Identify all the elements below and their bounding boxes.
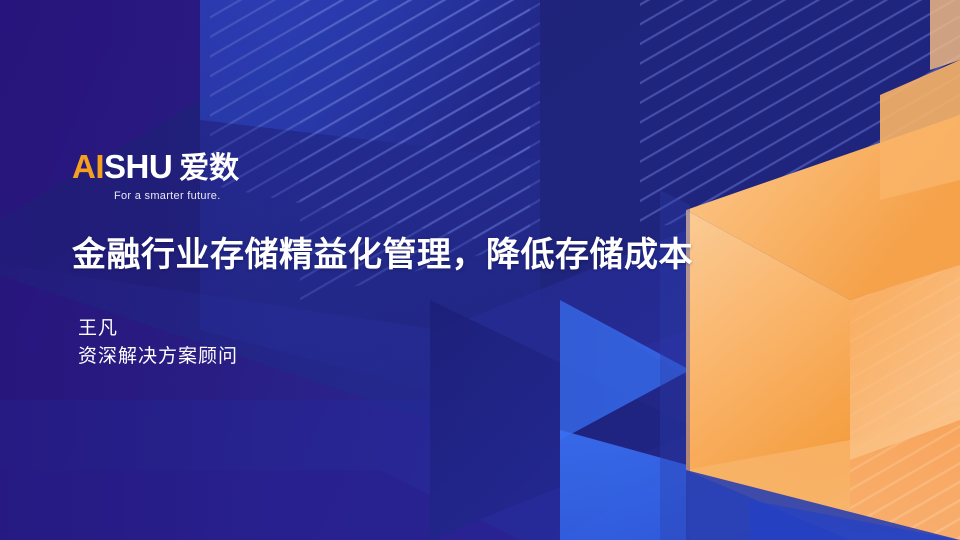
presenter-name: 王凡 <box>78 315 238 343</box>
logo-tagline: For a smarter future. <box>114 190 372 202</box>
slide-title: 金融行业存储精益化管理，降低存储成本 <box>72 227 693 276</box>
logo-mark-ai: AI <box>72 148 104 185</box>
presenter-role: 资深解决方案顾问 <box>78 343 238 371</box>
brand-logo: AISHU爱数 For a smarter future. <box>72 150 372 202</box>
presentation-slide: AISHU爱数 For a smarter future. 金融行业存储精益化管… <box>0 0 960 540</box>
presenter-info: 王凡 资深解决方案顾问 <box>78 315 238 370</box>
logo-wordmark: AISHU爱数 <box>72 150 372 184</box>
logo-mark-shu: SHU <box>104 148 172 185</box>
logo-mark-cn: 爱数 <box>179 152 239 185</box>
